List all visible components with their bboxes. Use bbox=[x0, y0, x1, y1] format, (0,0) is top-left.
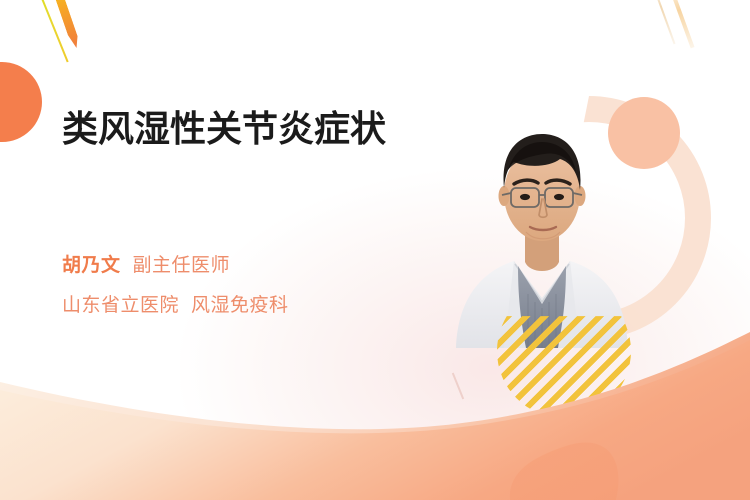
cream-hairline-decor-b bbox=[666, 0, 694, 48]
page-title: 类风湿性关节炎症状 bbox=[62, 108, 402, 152]
doctor-name: 胡乃文 bbox=[62, 254, 121, 276]
wave-front-decor bbox=[0, 330, 750, 500]
department-name: 风湿免疫科 bbox=[191, 294, 289, 316]
hospital-name: 山东省立医院 bbox=[62, 294, 179, 316]
affiliation: 山东省立医院风湿免疫科 bbox=[62, 290, 289, 317]
doctor-title: 副主任医师 bbox=[133, 254, 231, 276]
byline: 胡乃文副主任医师 bbox=[62, 250, 230, 277]
cream-hairline-decor-a bbox=[651, 0, 675, 44]
video-cover-card: 类风湿性关节炎症状 胡乃文副主任医师 山东省立医院风湿免疫科 bbox=[0, 0, 750, 500]
text-block: 类风湿性关节炎症状 胡乃文副主任医师 山东省立医院风湿免疫科 bbox=[62, 108, 412, 152]
orange-circle-decor bbox=[0, 62, 42, 142]
